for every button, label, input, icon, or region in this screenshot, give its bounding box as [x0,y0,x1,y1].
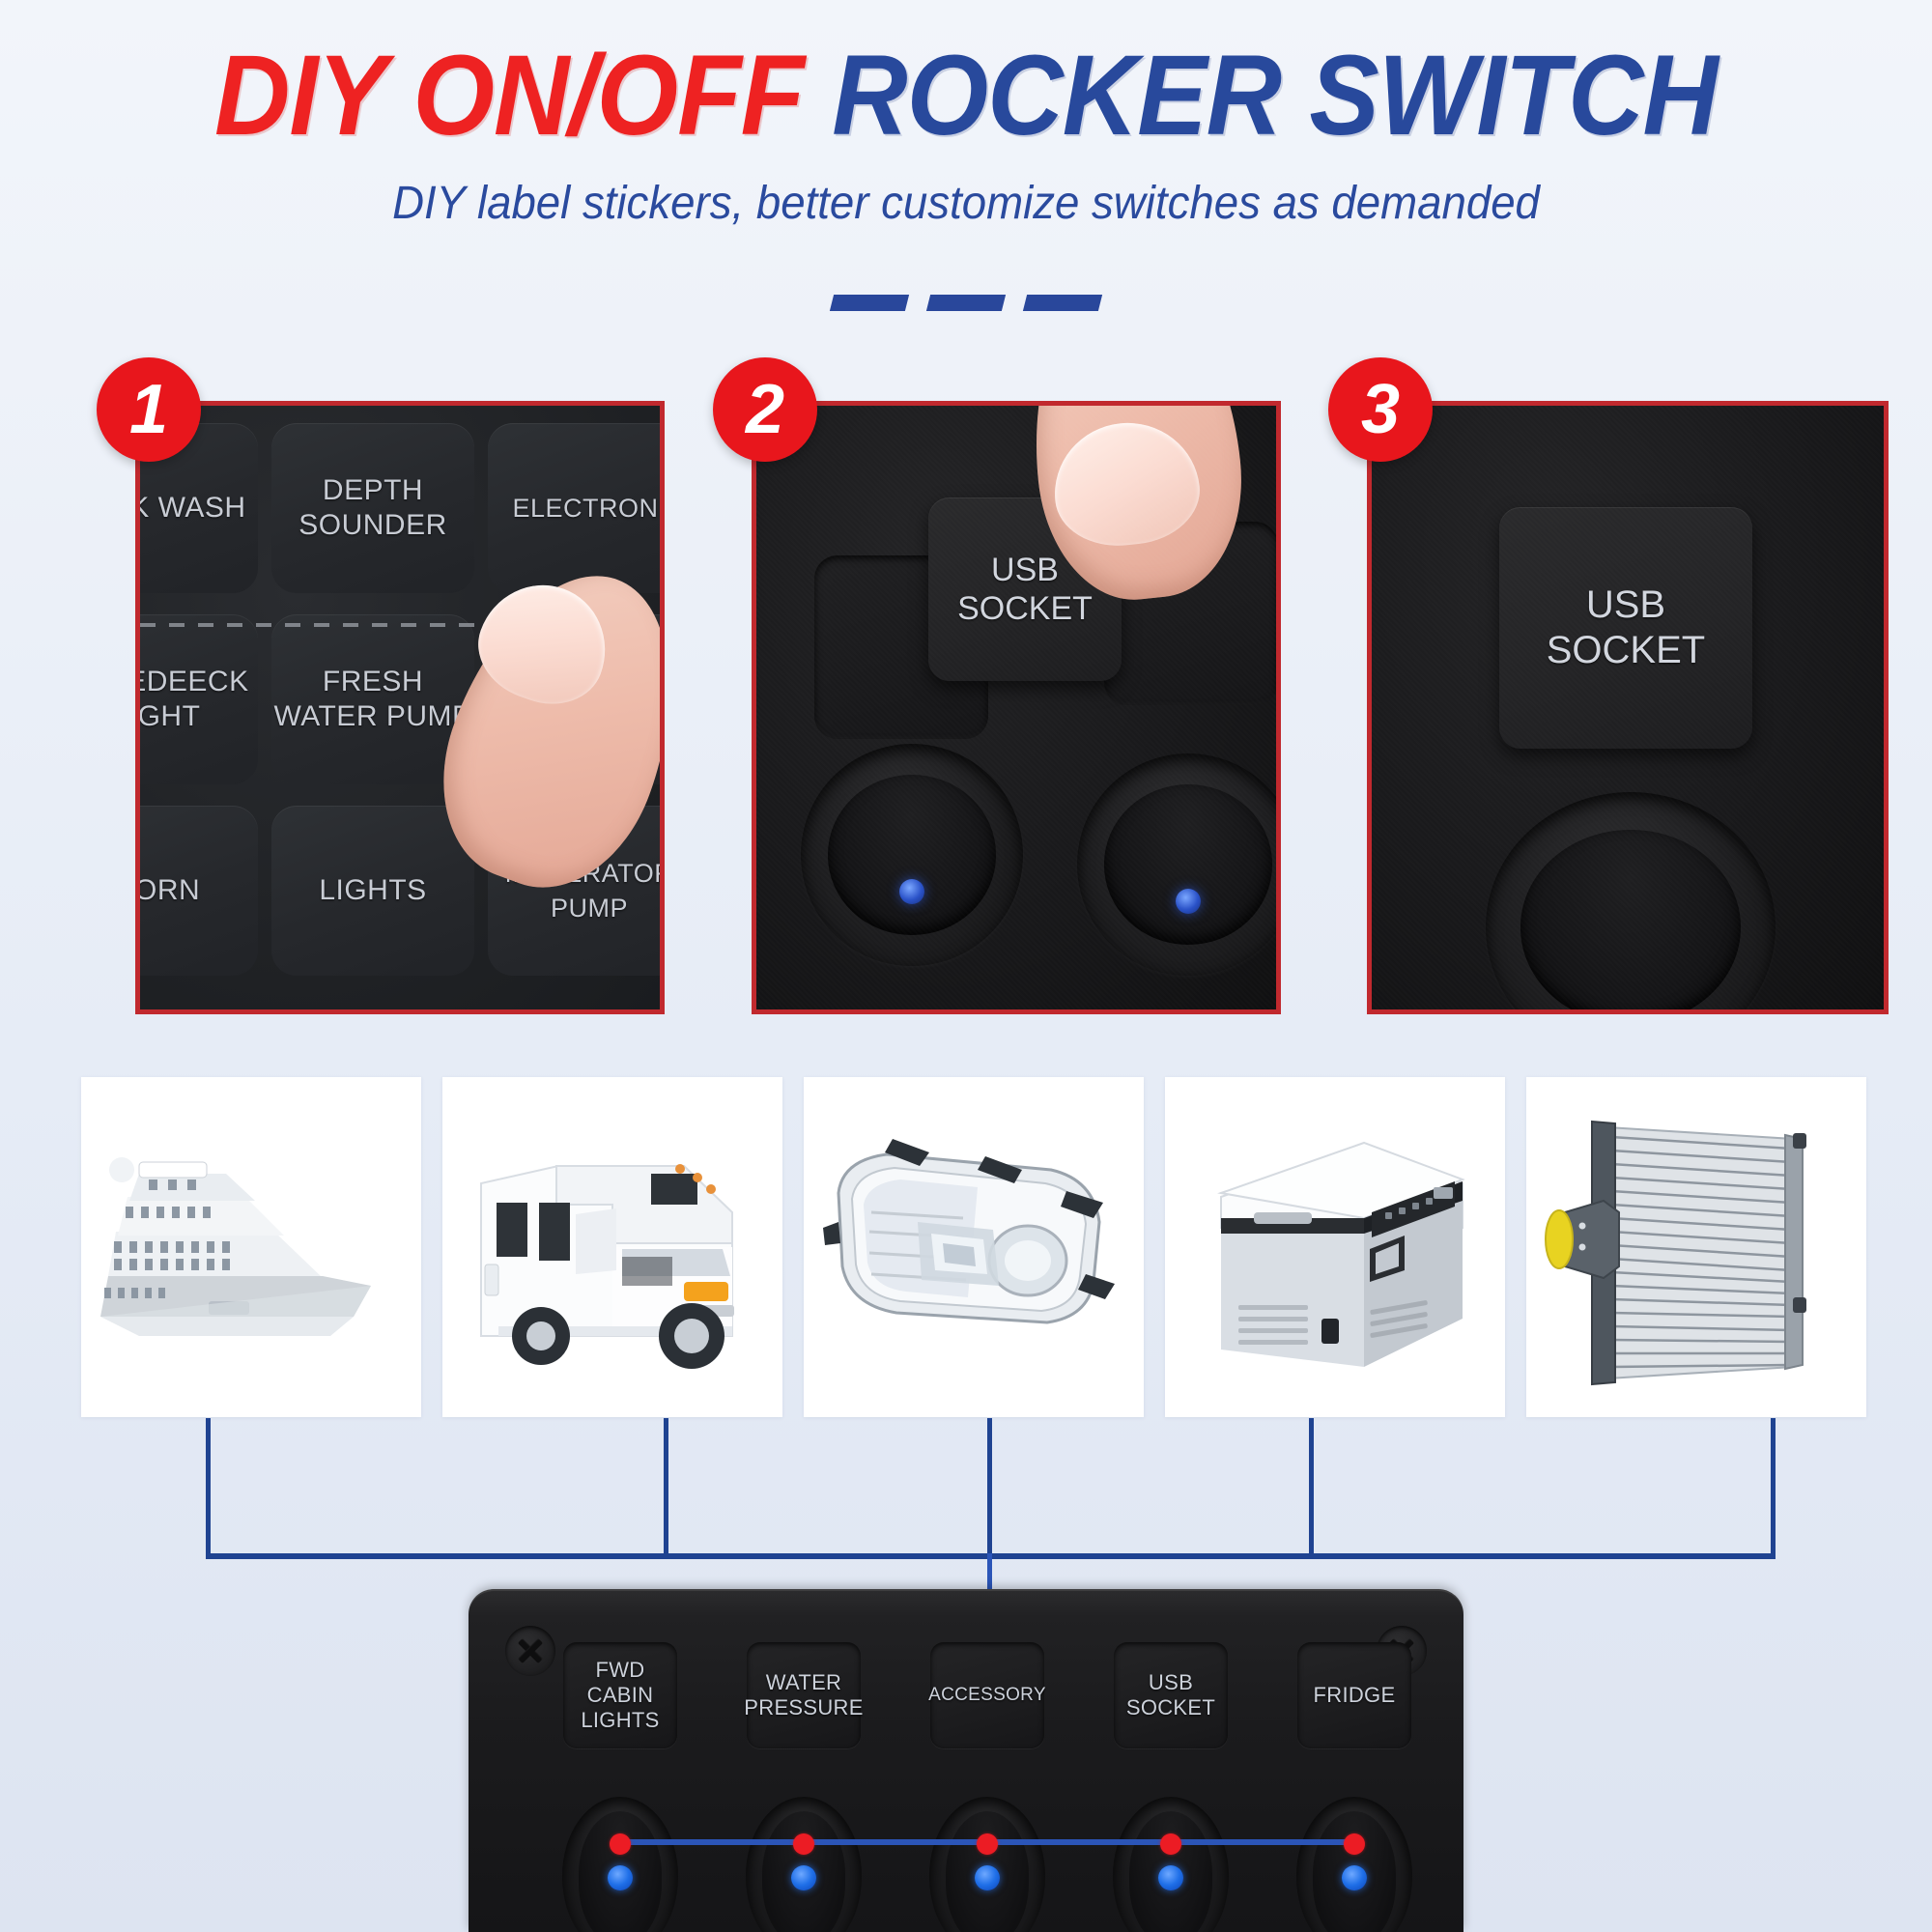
step-image-1: DECK WASH DEPTH SOUNDER ELECTRONI FOREDE… [135,401,665,1014]
switch-label-window-1[interactable]: FWD CABINLIGHTS [563,1642,677,1748]
blue-led-1 [608,1865,633,1890]
sticker-row: DECK WASH DEPTH SOUNDER ELECTRONI [135,423,665,599]
wire-drop-1 [206,1418,211,1556]
title-blue-part: ROCKER SWITCH [832,32,1718,159]
dash-divider [0,290,1932,315]
title-red-part: DIY ON/OFF [214,32,832,159]
blue-led-indicator [899,879,924,904]
sticker-cell[interactable]: DEPTH SOUNDER [271,423,474,593]
switch-label-window-5[interactable]: FRIDGE [1297,1642,1411,1748]
application-card-portable-fridge [1165,1077,1505,1417]
portable-fridge-icon [1165,1077,1505,1417]
red-led-2 [793,1833,814,1855]
cruise-ship-icon [81,1077,421,1417]
rocker-switch[interactable] [1486,792,1776,1014]
step-badge-2: 2 [713,357,817,462]
application-gallery [0,1077,1932,1420]
switch-label-text: FWD CABINLIGHTS [563,1658,677,1733]
rocker-switch-1[interactable] [562,1797,678,1932]
blue-led-5 [1342,1865,1367,1890]
page-title: DIY ON/OFF ROCKER SWITCH [77,39,1855,153]
rocker-switch[interactable] [1077,753,1281,976]
red-led-1 [610,1833,631,1855]
empty-label-slot[interactable] [1104,522,1278,705]
car-headlight-icon [804,1077,1144,1417]
rocker-switch-2[interactable] [746,1797,862,1932]
step-gallery: 1 DECK WASH DEPTH SOUNDER ELECTRONI FORE… [0,348,1932,1024]
dash-segment [926,295,1006,311]
header: DIY ON/OFF ROCKER SWITCH DIY label stick… [0,0,1932,261]
switch-label-text: USBSOCKET [1126,1670,1215,1720]
step-image-3: USBSOCKET [1367,401,1889,1014]
switch-label-window-4[interactable]: USBSOCKET [1114,1642,1228,1748]
sticker-text: USBSOCKET [957,551,1093,628]
sticker-cell[interactable]: FOREDEECK LIGHT [135,614,258,784]
blue-led-indicator [1176,889,1201,914]
switch-label-text: ACCESSORY [928,1683,1046,1708]
sticker-cell[interactable]: LIGHTS [271,806,474,976]
sticker-cell[interactable]: ELECTRONI [488,423,665,593]
rocker-switch-5[interactable] [1296,1797,1412,1932]
switch-label-text: WATERPRESSURE [744,1670,863,1720]
label-sticker-sheet: DECK WASH DEPTH SOUNDER ELECTRONI FOREDE… [140,406,660,1009]
rv-motorhome-icon [442,1077,782,1417]
sticker-cell[interactable]: FRESH WATER PUMP [271,614,474,784]
switch-panel-closeup: USBSOCKET [756,406,1276,1009]
step-badge-1: 1 [97,357,201,462]
step-image-2: USBSOCKET [752,401,1281,1014]
blue-led-3 [975,1865,1000,1890]
rocker-switch[interactable] [801,744,1023,966]
red-led-5 [1344,1833,1365,1855]
red-led-3 [977,1833,998,1855]
application-card-radiator [1526,1077,1866,1417]
screw-top-left [505,1626,555,1676]
usb-socket-sticker-installed[interactable]: USBSOCKET [1499,507,1752,749]
switch-panel-closeup-installed: USBSOCKET [1372,406,1884,1009]
switch-label-window-2[interactable]: WATERPRESSURE [747,1642,861,1748]
radiator-intercooler-icon [1526,1077,1866,1417]
wire-drop-5 [1771,1418,1776,1556]
wire-drop-2 [664,1418,668,1556]
step-badge-3: 3 [1328,357,1433,462]
switch-label-window-3[interactable]: ACCESSORY [930,1642,1044,1748]
usb-socket-sticker[interactable]: USBSOCKET [928,497,1122,681]
blue-led-4 [1158,1865,1183,1890]
red-led-4 [1160,1833,1181,1855]
rocker-switch-3[interactable] [929,1797,1045,1932]
empty-label-slot[interactable] [814,555,988,739]
blue-led-2 [791,1865,816,1890]
sticker-cell[interactable]: HORN [135,806,258,976]
switch-panel: FWD CABINLIGHTS WATERPRESSURE ACCESSORY … [469,1589,1463,1932]
dash-segment [1023,295,1102,311]
rocker-switch-4[interactable] [1113,1797,1229,1932]
sticker-text: USBSOCKET [1547,582,1705,673]
wire-drop-4 [1309,1418,1314,1556]
switch-label-text: FRIDGE [1314,1683,1396,1708]
page-subtitle: DIY label stickers, better customize swi… [48,179,1884,229]
application-card-cruise-ship [81,1077,421,1417]
dash-segment [830,295,909,311]
fingernail [1048,416,1205,553]
application-card-rv-motorhome [442,1077,782,1417]
finger [1018,401,1253,609]
wire-drop-3 [987,1418,992,1556]
application-card-car-headlight [804,1077,1144,1417]
